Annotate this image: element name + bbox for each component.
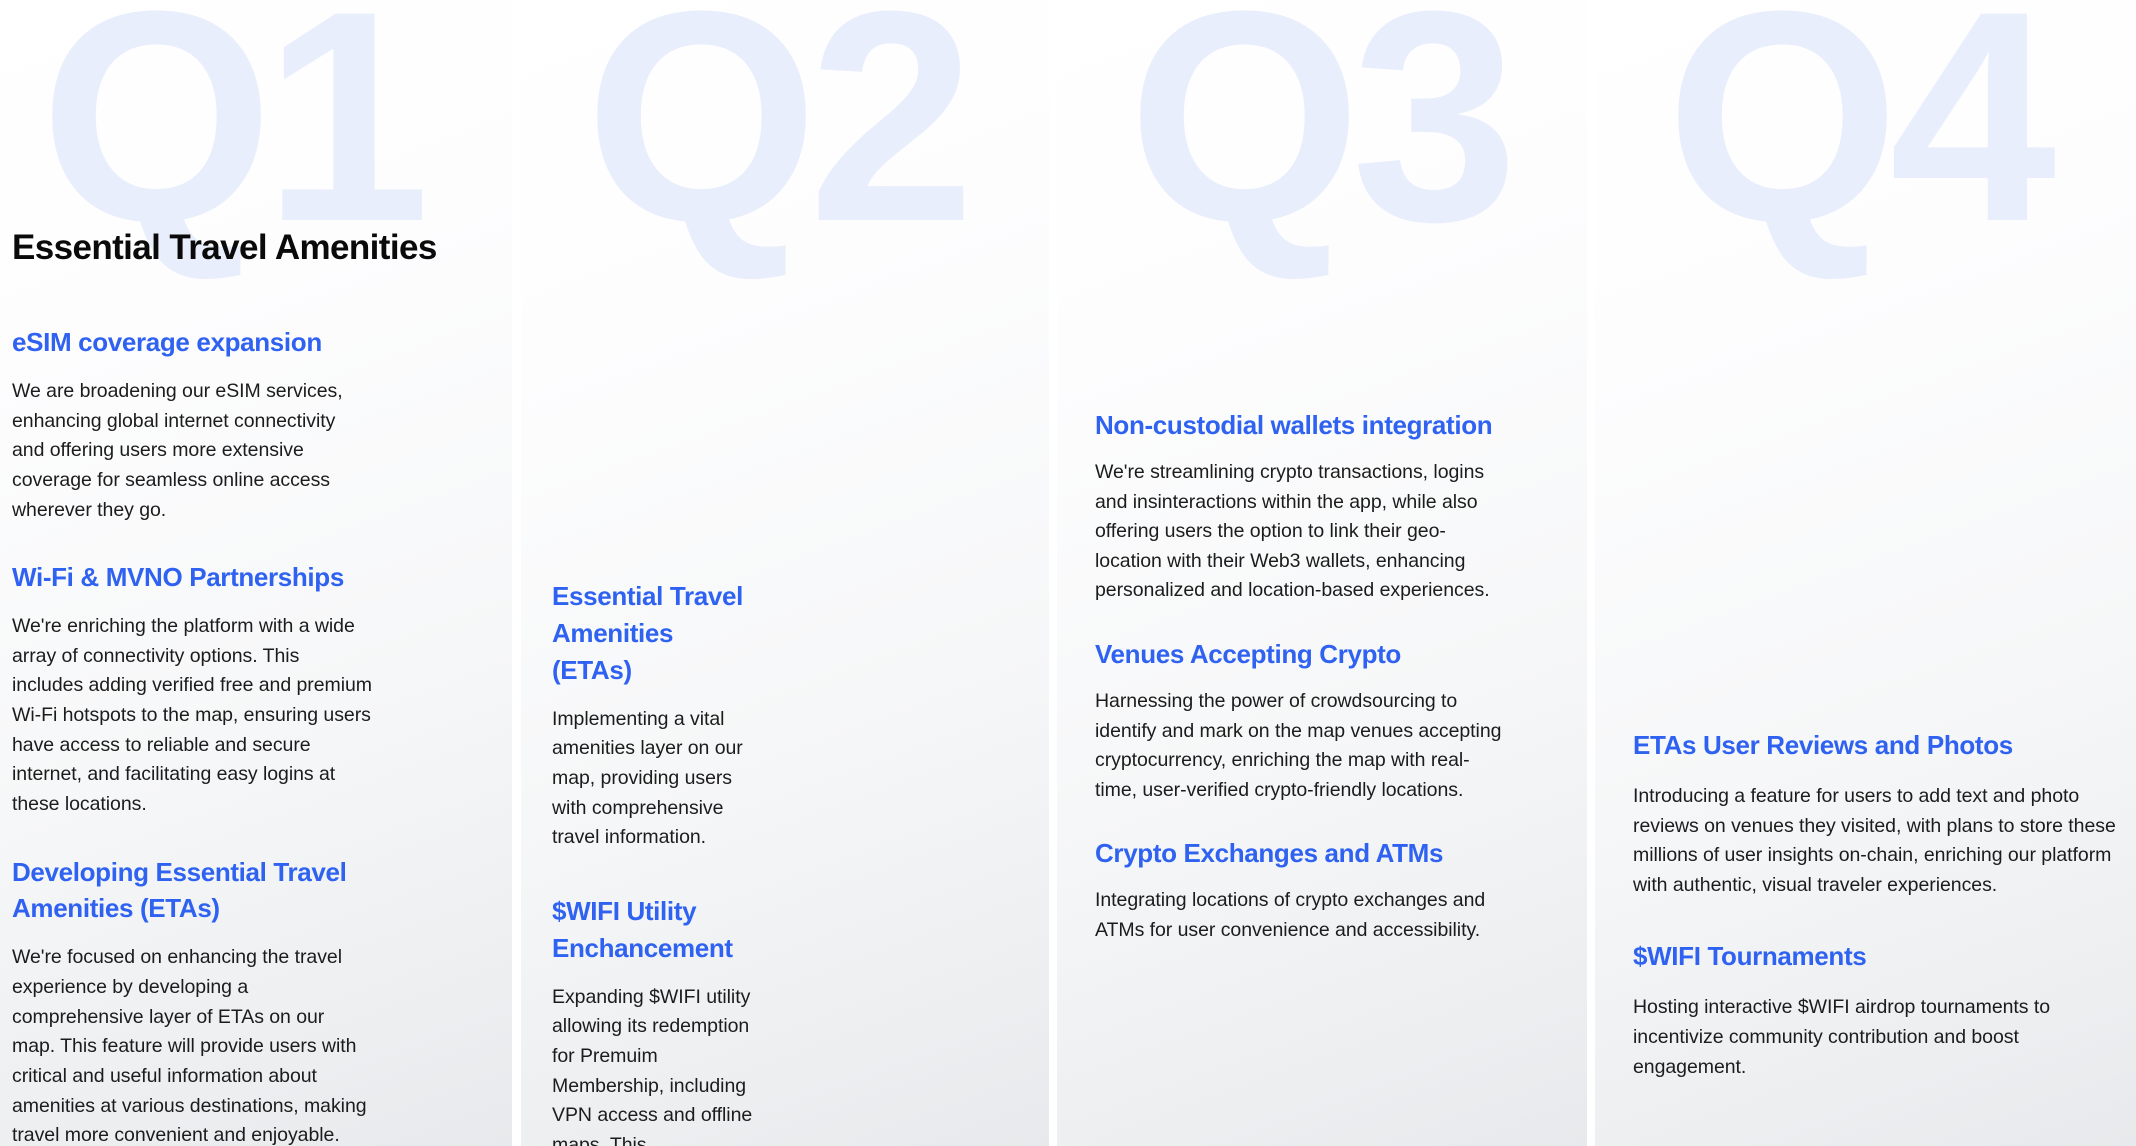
item-heading: ETAs User Reviews and Photos bbox=[1633, 727, 2118, 764]
item-body: Implementing a vital amenities layer on … bbox=[552, 705, 755, 853]
column-q1: Essential Travel Amenities eSIM coverage… bbox=[0, 0, 512, 1146]
item-body: We're focused on enhancing the travel ex… bbox=[12, 943, 372, 1146]
roadmap-item: Crypto Exchanges and ATMs Integrating lo… bbox=[1095, 835, 1505, 945]
item-heading: Wi-Fi & MVNO Partnerships bbox=[12, 559, 372, 596]
item-heading: Non-custodial wallets integration bbox=[1095, 407, 1505, 444]
item-body: We are broadening our eSIM services, enh… bbox=[12, 377, 372, 525]
roadmap-item: ETAs User Reviews and Photos Introducing… bbox=[1633, 727, 2118, 900]
item-heading: Developing Essential Travel Amenities (E… bbox=[12, 854, 372, 928]
roadmap-item: $WIFI Tournaments Hosting interactive $W… bbox=[1633, 938, 2118, 1082]
item-heading: eSIM coverage expansion bbox=[12, 324, 372, 361]
column-q4: ETAs User Reviews and Photos Introducing… bbox=[1595, 0, 2136, 1146]
item-heading: $WIFI Utility Enchancement bbox=[552, 893, 755, 967]
item-body: Expanding $WIFI utility allowing its red… bbox=[552, 983, 755, 1146]
column-q2: Essential Travel Amenities (ETAs) Implem… bbox=[521, 0, 1049, 1146]
roadmap-item: eSIM coverage expansion We are broadenin… bbox=[12, 324, 372, 525]
roadmap-item: Developing Essential Travel Amenities (E… bbox=[12, 854, 372, 1146]
quarter-columns: Essential Travel Amenities eSIM coverage… bbox=[0, 0, 2136, 1146]
item-heading: Crypto Exchanges and ATMs bbox=[1095, 835, 1505, 872]
item-body: Harnessing the power of crowdsourcing to… bbox=[1095, 687, 1505, 806]
item-body: We're enriching the platform with a wide… bbox=[12, 612, 372, 819]
item-heading: $WIFI Tournaments bbox=[1633, 938, 2118, 975]
item-heading: Essential Travel Amenities (ETAs) bbox=[552, 578, 755, 689]
roadmap-item: Wi-Fi & MVNO Partnerships We're enrichin… bbox=[12, 559, 372, 819]
page-title: Essential Travel Amenities bbox=[12, 228, 372, 268]
roadmap-item: Non-custodial wallets integration We're … bbox=[1095, 407, 1505, 606]
roadmap-item: Essential Travel Amenities (ETAs) Implem… bbox=[552, 578, 755, 853]
item-body: Introducing a feature for users to add t… bbox=[1633, 782, 2118, 901]
roadmap-item: Venues Accepting Crypto Harnessing the p… bbox=[1095, 636, 1505, 805]
item-body: Integrating locations of crypto exchange… bbox=[1095, 886, 1505, 945]
item-heading: Venues Accepting Crypto bbox=[1095, 636, 1505, 673]
roadmap-infographic: Q1 Q2 Q3 Q4 Essential Travel Amenities e… bbox=[0, 0, 2136, 1146]
column-q3: Non-custodial wallets integration We're … bbox=[1057, 0, 1587, 1146]
roadmap-item: $WIFI Utility Enchancement Expanding $WI… bbox=[552, 893, 755, 1146]
item-body: We're streamlining crypto transactions, … bbox=[1095, 458, 1505, 606]
item-body: Hosting interactive $WIFI airdrop tourna… bbox=[1633, 993, 2118, 1082]
